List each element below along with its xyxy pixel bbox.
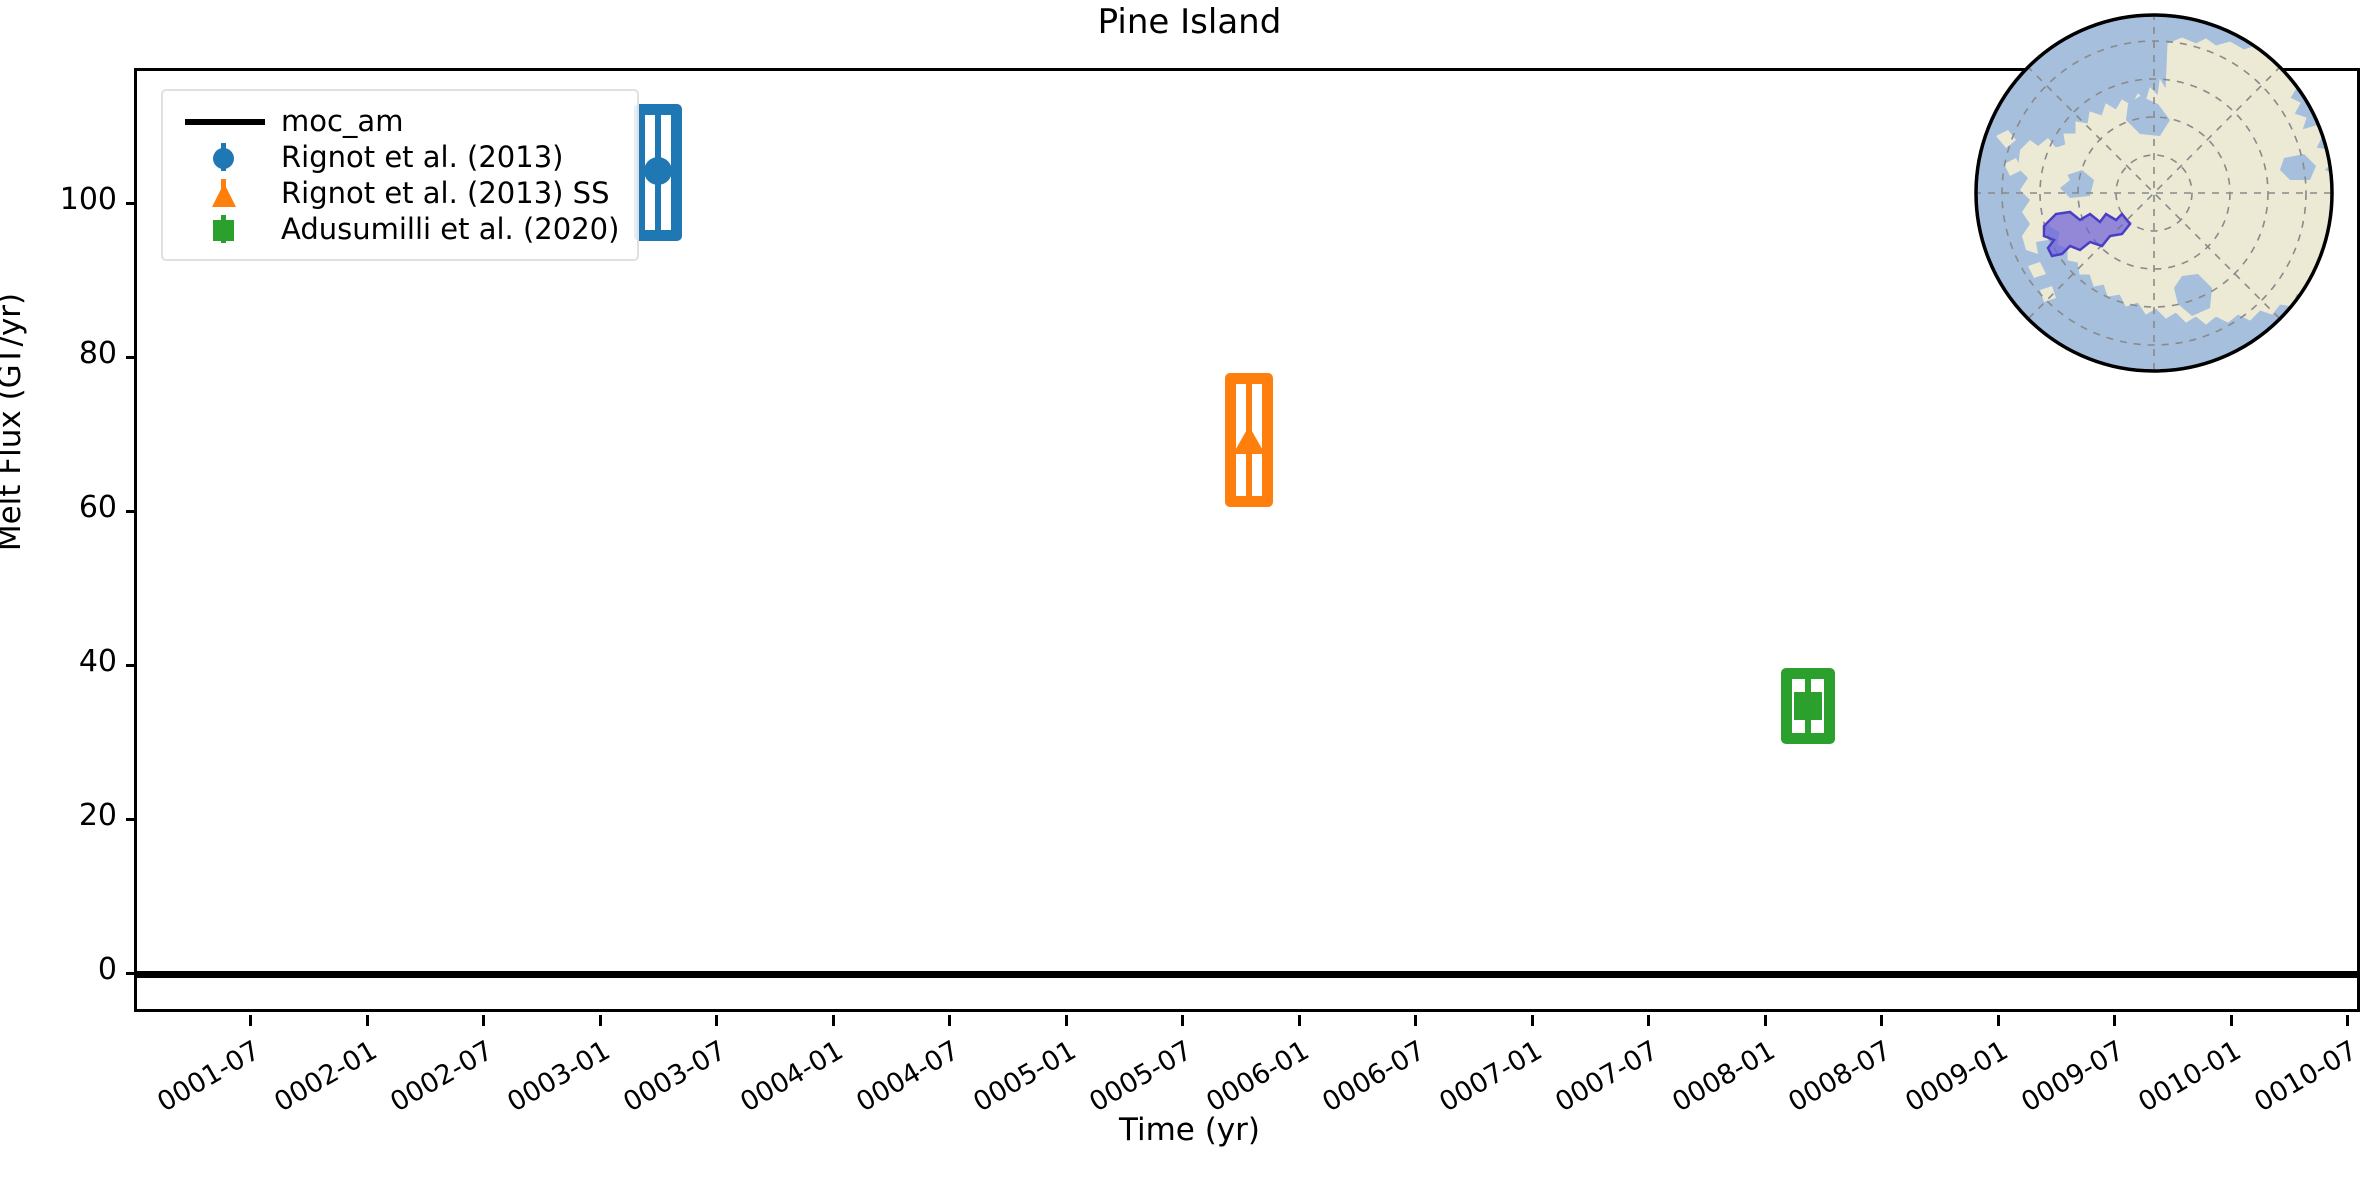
x-tick-mark xyxy=(366,1015,369,1026)
legend-item-adusumilli-2020[interactable]: Adusumilli et al. (2020) xyxy=(177,211,619,247)
x-tick-mark xyxy=(1764,1015,1767,1026)
moc-am-zero-line xyxy=(137,971,2357,978)
y-tick-label: 20 xyxy=(79,798,117,833)
legend-label: moc_am xyxy=(273,104,403,138)
legend-item-rignot-2013[interactable]: Rignot et al. (2013) xyxy=(177,139,619,175)
y-tick-mark xyxy=(126,510,137,513)
x-tick-mark xyxy=(2346,1015,2349,1026)
legend-key-square xyxy=(177,211,273,247)
y-tick-label: 80 xyxy=(79,336,117,371)
x-tick-mark xyxy=(715,1015,718,1026)
x-tick-mark xyxy=(2113,1015,2116,1026)
y-tick-label: 40 xyxy=(79,644,117,679)
legend[interactable]: moc_am Rignot et al. (2013) Rignot et al… xyxy=(161,89,639,261)
legend-label: Adusumilli et al. (2020) xyxy=(273,212,619,246)
x-tick-mark xyxy=(1414,1015,1417,1026)
y-tick-label: 0 xyxy=(98,952,117,987)
x-tick-mark xyxy=(1531,1015,1534,1026)
legend-key-circle xyxy=(177,139,273,175)
datapoint-rignot-2013-ss[interactable] xyxy=(1225,373,1273,507)
legend-label: Rignot et al. (2013) SS xyxy=(273,176,610,210)
y-tick-mark xyxy=(126,202,137,205)
y-tick-label: 60 xyxy=(79,490,117,525)
y-tick-mark xyxy=(126,972,137,975)
x-tick-mark xyxy=(1298,1015,1301,1026)
x-tick-mark xyxy=(1181,1015,1184,1026)
x-tick-mark xyxy=(599,1015,602,1026)
x-tick-mark xyxy=(948,1015,951,1026)
marker-square xyxy=(1794,692,1822,720)
y-tick-mark xyxy=(126,664,137,667)
legend-item-rignot-2013-ss[interactable]: Rignot et al. (2013) SS xyxy=(177,175,619,211)
legend-item-moc-am[interactable]: moc_am xyxy=(177,103,619,139)
x-tick-mark xyxy=(249,1015,252,1026)
datapoint-adusumilli-2020[interactable] xyxy=(1781,668,1835,744)
x-tick-mark xyxy=(832,1015,835,1026)
y-axis-label: Melt Flux (GT/yr) xyxy=(0,0,28,894)
x-tick-mark xyxy=(2230,1015,2233,1026)
antarctica-map-svg xyxy=(1944,8,2364,428)
antarctica-locator-map xyxy=(1944,8,2364,428)
triangle-marker-icon xyxy=(212,183,236,207)
y-tick-mark xyxy=(126,356,137,359)
x-tick-mark xyxy=(1065,1015,1068,1026)
legend-key-line xyxy=(177,103,273,139)
datapoint-rignot-2013[interactable] xyxy=(634,104,682,241)
x-tick-mark xyxy=(482,1015,485,1026)
legend-label: Rignot et al. (2013) xyxy=(273,140,563,174)
line-swatch-icon xyxy=(185,119,265,125)
figure-canvas: Pine Island 100 80 60 40 20 0 0 xyxy=(0,0,2379,1180)
x-tick-mark xyxy=(1647,1015,1650,1026)
legend-key-triangle xyxy=(177,175,273,211)
x-tick-mark xyxy=(1997,1015,2000,1026)
x-tick-mark xyxy=(1880,1015,1883,1026)
x-axis-label: Time (yr) xyxy=(0,1112,2379,1148)
circle-marker-icon xyxy=(213,148,234,169)
square-marker-icon xyxy=(213,220,234,241)
marker-circle xyxy=(644,157,672,185)
y-tick-mark xyxy=(126,818,137,821)
y-tick-label: 100 xyxy=(60,182,117,217)
marker-triangle xyxy=(1233,426,1265,454)
